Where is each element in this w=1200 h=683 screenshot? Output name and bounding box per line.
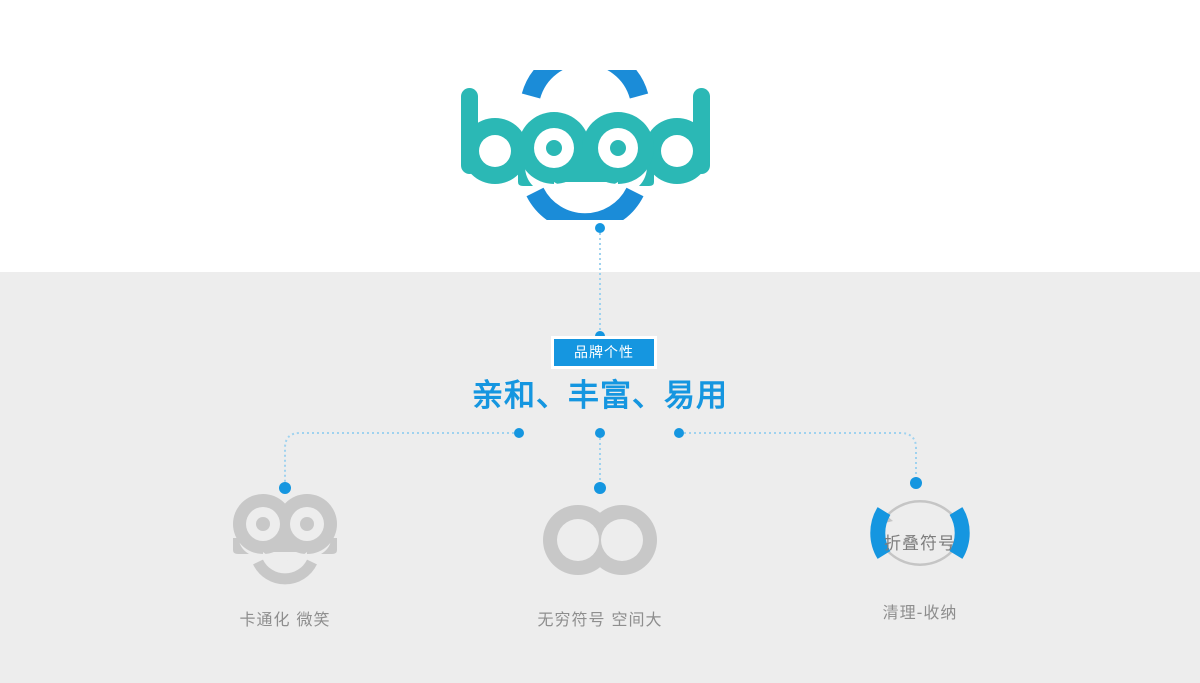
infographic-canvas: 品牌个性 亲和、丰富、易用 卡通化 微 (0, 0, 1200, 683)
brand-personality-badge[interactable]: 品牌个性 (551, 336, 657, 369)
recycle-ring-glyph (855, 478, 985, 588)
logo-mark (455, 70, 745, 220)
logo-top-arc (531, 70, 639, 96)
recycle-top-arrow-arc (885, 501, 955, 518)
recycle-ring-icon (810, 483, 1030, 583)
feature-item-cartoon: 卡通化 微笑 (175, 490, 395, 628)
badge-label: 品牌个性 (574, 346, 634, 360)
cartoon-face-glyph (225, 490, 345, 590)
cartoon-face-icon (175, 490, 395, 590)
feature-label: 无穷符号 空间大 (490, 612, 710, 628)
feature-item-infinity: 无穷符号 空间大 (490, 490, 710, 628)
feature-label: 卡通化 微笑 (175, 612, 395, 628)
logo-letter-b (461, 88, 528, 184)
brand-logo (455, 70, 745, 220)
infinity-symbol-icon (490, 490, 710, 590)
recycle-ring-inner-text: 折叠符号 (810, 536, 1030, 553)
infinity-glyph (540, 490, 660, 590)
tagline-text: 亲和、丰富、易用 (0, 377, 1200, 415)
feature-label: 清理-收纳 (810, 605, 1030, 621)
logo-face (518, 112, 654, 200)
